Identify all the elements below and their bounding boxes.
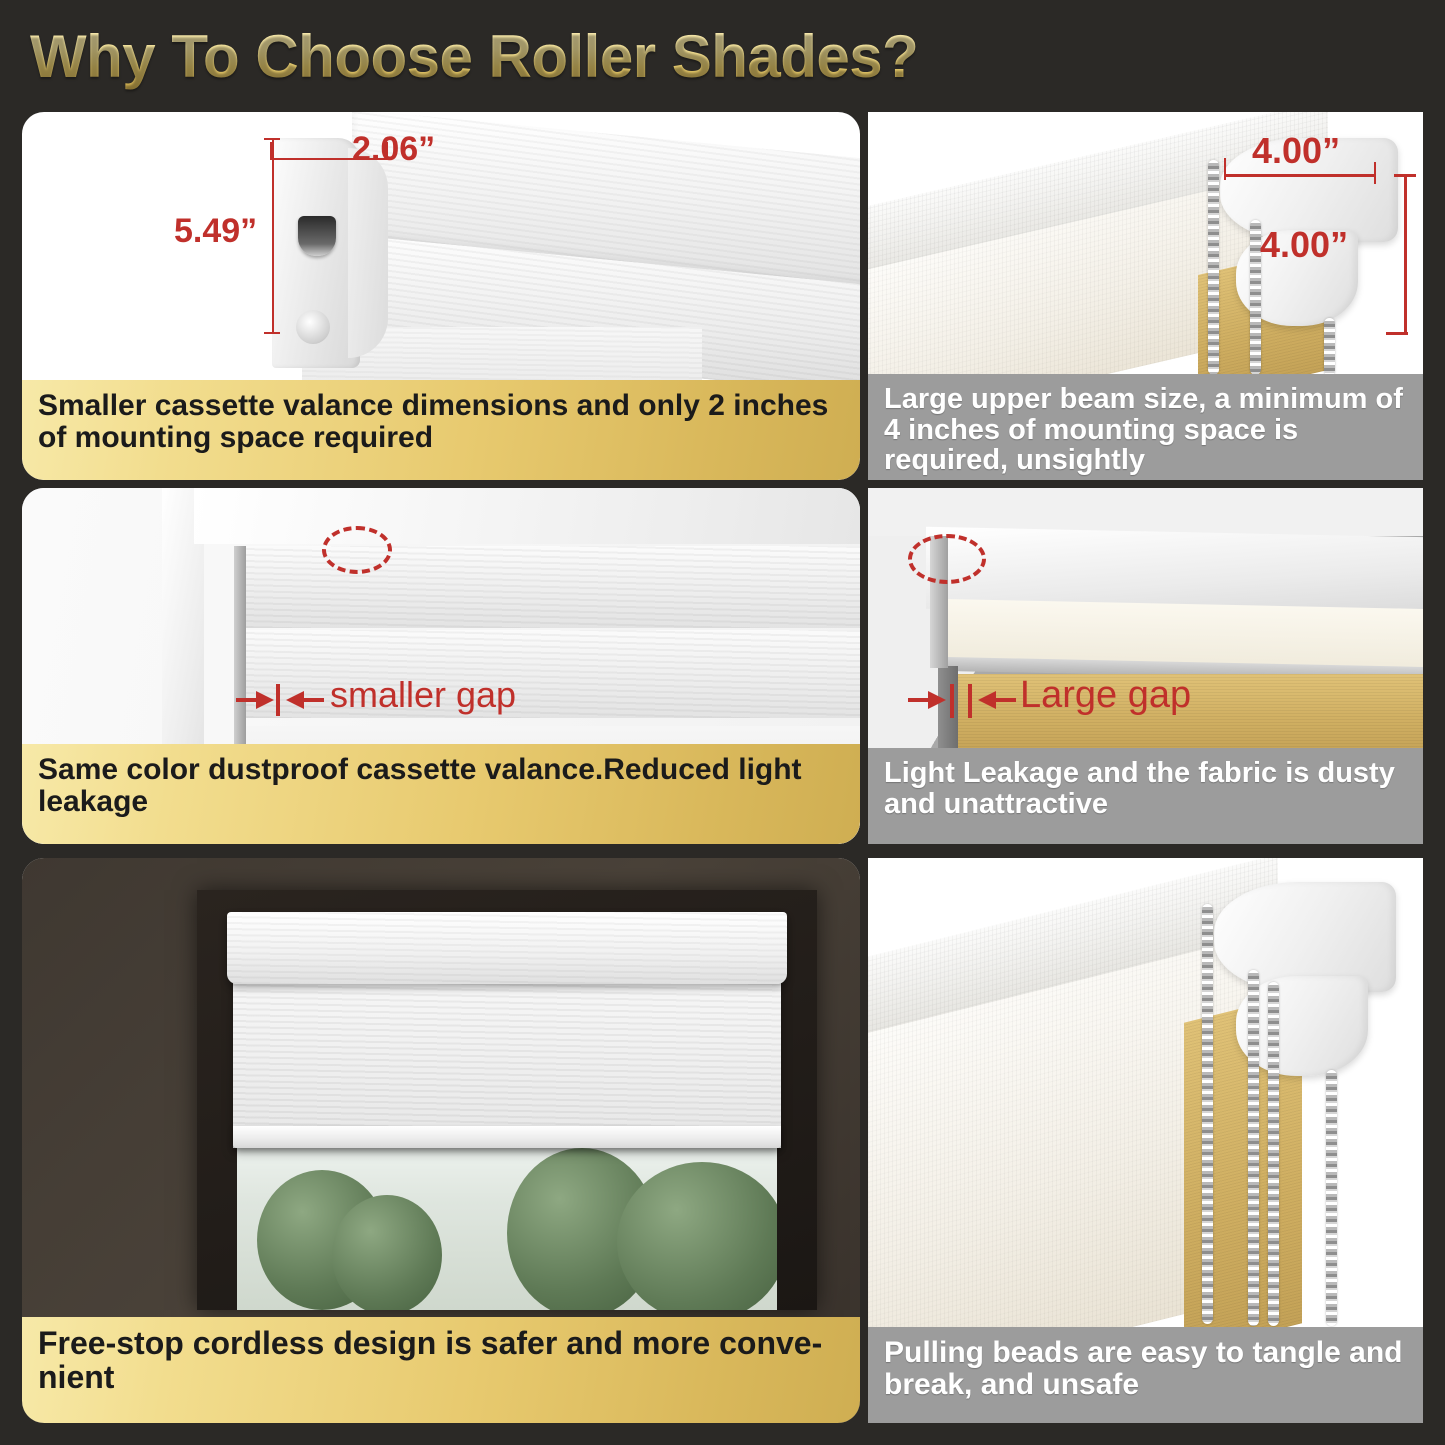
- bead-chain-left: [1202, 904, 1213, 1324]
- tree-left-2: [332, 1195, 442, 1310]
- dim-tick-beam-left: [1224, 158, 1226, 180]
- caption-pulling-beads: Pulling beads are easy to tangle and bre…: [868, 1327, 1423, 1423]
- gap-marker-bar: [276, 684, 280, 716]
- shade-bottom-rail: [233, 1126, 781, 1148]
- bead-chain-left: [1208, 160, 1219, 375]
- dimension-label-height: 5.49”: [174, 212, 257, 251]
- dim-tick-beam-bottom: [1386, 332, 1408, 335]
- panel-light-leakage: Large gap Light Leakage and the fabric i…: [868, 488, 1423, 844]
- bead-chain-mid-2: [1268, 982, 1279, 1326]
- window-frame-top: [194, 488, 860, 544]
- gap-callout-label: smaller gap: [330, 674, 516, 716]
- gap-marker-bar-2: [968, 684, 972, 718]
- dim-line-height: [272, 138, 274, 334]
- gap-arrow-right-icon: [284, 688, 324, 712]
- valance-end-bracket: [272, 138, 360, 368]
- bead-chain-right: [1324, 318, 1335, 376]
- shade-valance: [227, 912, 787, 984]
- bead-chain-right: [1326, 1070, 1337, 1326]
- gap-callout-label: Large gap: [1020, 674, 1191, 717]
- window-frame: [197, 890, 817, 1310]
- caption-light-leakage: Light Leakage and the fabric is dusty an…: [868, 748, 1423, 844]
- gap-arrow-right-icon: [976, 688, 1016, 712]
- bracket-screw: [296, 310, 330, 344]
- dimension-label-width: 2.06”: [352, 130, 435, 169]
- panel-large-upper-beam: 4.00” 4.00” Large upper beam size, a min…: [868, 112, 1423, 480]
- caption-large-upper-beam: Large upper beam size, a minimum of 4 in…: [868, 374, 1423, 480]
- gap-marker-bar-1: [950, 684, 954, 718]
- gap-arrow-left-icon: [908, 688, 948, 712]
- panel-dustproof-valance: smaller gap Same color dustproof cassett…: [22, 488, 860, 844]
- dim-tick-top: [264, 138, 280, 140]
- caption-smaller-cassette: Smaller cassette valance dimensions and …: [22, 380, 860, 480]
- gap-shadow-strip: [938, 666, 958, 758]
- gap-arrow-left-icon: [236, 688, 276, 712]
- dim-line-beam-width: [1224, 174, 1376, 177]
- dimension-label-beam-width: 4.00”: [1252, 130, 1340, 172]
- panel-cordless-design: Free-stop cordless design is safer and m…: [22, 858, 860, 1423]
- dashed-highlight-ring: [908, 534, 986, 584]
- caption-cordless-design: Free-stop cordless design is safer and m…: [22, 1317, 860, 1423]
- shade-edge-shadow: [234, 546, 246, 746]
- panel-smaller-cassette: 2.06” 5.49” Smaller cassette valance dim…: [22, 112, 860, 480]
- dim-tick-beam-top: [1394, 174, 1416, 177]
- dim-line-beam-height: [1404, 174, 1407, 334]
- dashed-highlight-ring: [322, 526, 392, 574]
- bead-chain-mid: [1248, 970, 1259, 1326]
- bracket-slot: [298, 216, 336, 256]
- dim-tick-bottom: [264, 332, 280, 334]
- dimension-label-beam-height: 4.00”: [1260, 224, 1348, 266]
- dim-tick-beam-right: [1374, 162, 1376, 184]
- window-glass: [237, 1140, 777, 1310]
- caption-dustproof-valance: Same color dustproof cassette valance.Re…: [22, 744, 860, 844]
- page-title: Why To Choose Roller Shades?: [30, 22, 1130, 94]
- panel-pulling-beads: Pulling beads are easy to tangle and bre…: [868, 858, 1423, 1423]
